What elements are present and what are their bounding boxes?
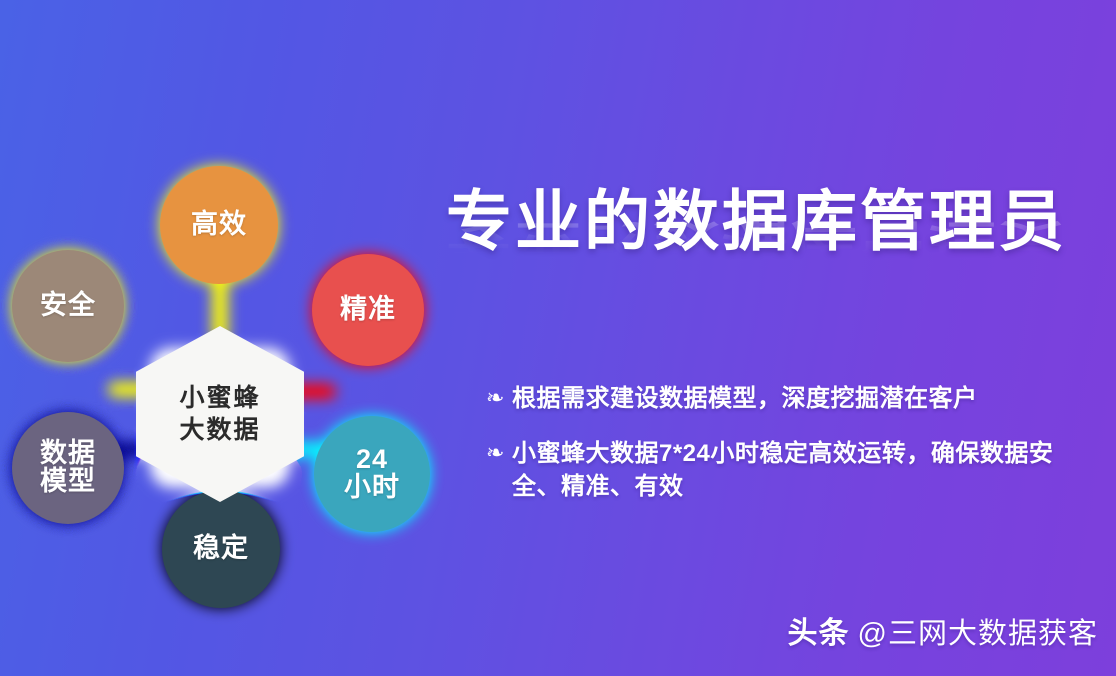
diagram-node-wending-label: 稳定 [193,535,249,563]
diagram-node-24h-line1: 24 [356,446,388,474]
diagram-node-shuju-line2: 模型 [40,468,96,496]
bullet-item-2-text: 小蜜蜂大数据7*24小时稳定高效运转，确保数据安全、精准、有效 [512,437,1078,503]
right-content-panel: 专业的数据库管理员 专业的数据库管理员 ❧ 根据需求建设数据模型，深度挖掘潜在客… [436,0,1116,676]
diagram-node-gaoxiao-label: 高效 [191,211,247,239]
footer-handle-label: @三网大数据获客 [858,610,1098,652]
bullet-item-1-text: 根据需求建设数据模型，深度挖掘潜在客户 [512,382,978,415]
bullet-marker-icon: ❧ [486,384,512,412]
bullet-item-2: ❧ 小蜜蜂大数据7*24小时稳定高效运转，确保数据安全、精准、有效 [486,437,1106,503]
bullet-marker-icon: ❧ [486,439,512,467]
diagram-node-anquan-label: 安全 [40,292,96,320]
headline-block: 专业的数据库管理员 专业的数据库管理员 [446,188,1106,318]
page-title: 专业的数据库管理员 [446,188,1106,254]
bullet-item-1: ❧ 根据需求建设数据模型，深度挖掘潜在客户 [486,382,1106,415]
diagram-node-anquan[interactable]: 安全 [12,250,124,362]
hexagon-line-2: 大数据 [179,418,260,443]
diagram-node-wending[interactable]: 稳定 [162,490,280,608]
diagram-node-gaoxiao[interactable]: 高效 [160,166,278,284]
diagram-node-24-hours[interactable]: 24 小时 [314,416,430,532]
footer-brand-label: 头条 [788,608,850,652]
diagram-node-24h-line2: 小时 [344,474,400,502]
slide-canvas: 高效 安全 精准 数据 模型 24 小时 稳定 小蜜蜂 大数据 专业的数据库管理… [0,0,1116,676]
diagram-node-jingzhun-label: 精准 [340,296,396,324]
bullet-list: ❧ 根据需求建设数据模型，深度挖掘潜在客户 ❧ 小蜜蜂大数据7*24小时稳定高效… [486,382,1106,525]
hexagon-line-1: 小蜜蜂 [179,386,260,411]
diagram-node-shuju-line1: 数据 [40,440,96,468]
footer-watermark: 头条 @三网大数据获客 [788,608,1098,652]
diagram-node-jingzhun[interactable]: 精准 [312,254,424,366]
diagram-node-shuju-moxing[interactable]: 数据 模型 [12,412,124,524]
bigdata-hub-diagram: 高效 安全 精准 数据 模型 24 小时 稳定 小蜜蜂 大数据 [0,150,452,610]
